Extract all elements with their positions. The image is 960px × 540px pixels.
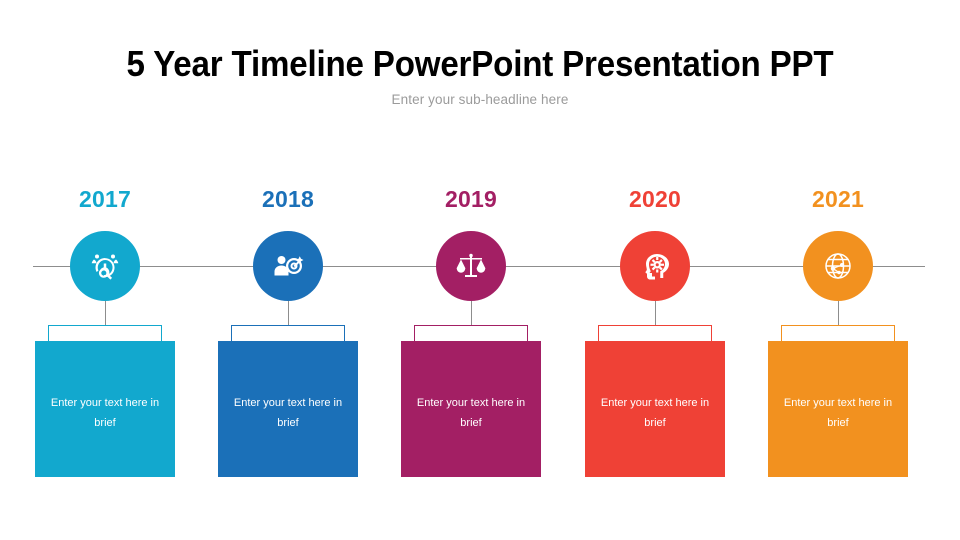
connector-line-2019 xyxy=(471,301,472,326)
timeline-step-2017: 2017 Enter your text here in brief xyxy=(14,0,197,540)
milestone-circle-2019[interactable] xyxy=(436,231,506,301)
timeline-step-2020: 2020 Enter your text here in brief xyxy=(564,0,747,540)
timeline-step-2021: 2021 Enter your text here in brief xyxy=(747,0,930,540)
milestone-circle-2018[interactable] xyxy=(253,231,323,301)
connector-line-2021 xyxy=(838,301,839,326)
description-box-2019[interactable]: Enter your text here in brief xyxy=(401,341,541,477)
year-label-2020: 2020 xyxy=(564,186,747,213)
balance-scales-icon xyxy=(455,250,487,282)
bracket-2019 xyxy=(414,325,528,343)
milestone-circle-2020[interactable] xyxy=(620,231,690,301)
year-label-2018: 2018 xyxy=(197,186,380,213)
bracket-2017 xyxy=(48,325,162,343)
milestone-circle-2017[interactable] xyxy=(70,231,140,301)
person-target-icon xyxy=(272,250,304,282)
description-text-2017: Enter your text here in brief xyxy=(47,393,163,433)
year-label-2017: 2017 xyxy=(14,186,197,213)
bracket-2021 xyxy=(781,325,895,343)
description-text-2018: Enter your text here in brief xyxy=(230,393,346,433)
year-label-2019: 2019 xyxy=(380,186,563,213)
description-text-2019: Enter your text here in brief xyxy=(413,393,529,433)
description-box-2021[interactable]: Enter your text here in brief xyxy=(768,341,908,477)
alarm-clock-search-icon xyxy=(89,250,121,282)
milestone-circle-2021[interactable] xyxy=(803,231,873,301)
globe-network-icon xyxy=(822,250,854,282)
description-text-2021: Enter your text here in brief xyxy=(780,393,896,433)
bracket-2018 xyxy=(231,325,345,343)
connector-line-2020 xyxy=(655,301,656,326)
description-box-2020[interactable]: Enter your text here in brief xyxy=(585,341,725,477)
year-label-2021: 2021 xyxy=(747,186,930,213)
head-gear-idea-icon xyxy=(639,250,671,282)
description-box-2018[interactable]: Enter your text here in brief xyxy=(218,341,358,477)
slide-canvas: 5 Year Timeline PowerPoint Presentation … xyxy=(0,0,960,540)
connector-line-2018 xyxy=(288,301,289,326)
timeline-step-2019: 2019 Enter your text here in brief xyxy=(380,0,563,540)
description-box-2017[interactable]: Enter your text here in brief xyxy=(35,341,175,477)
connector-line-2017 xyxy=(105,301,106,326)
description-text-2020: Enter your text here in brief xyxy=(597,393,713,433)
bracket-2020 xyxy=(598,325,712,343)
timeline-step-2018: 2018 Enter your text here in brief xyxy=(197,0,380,540)
